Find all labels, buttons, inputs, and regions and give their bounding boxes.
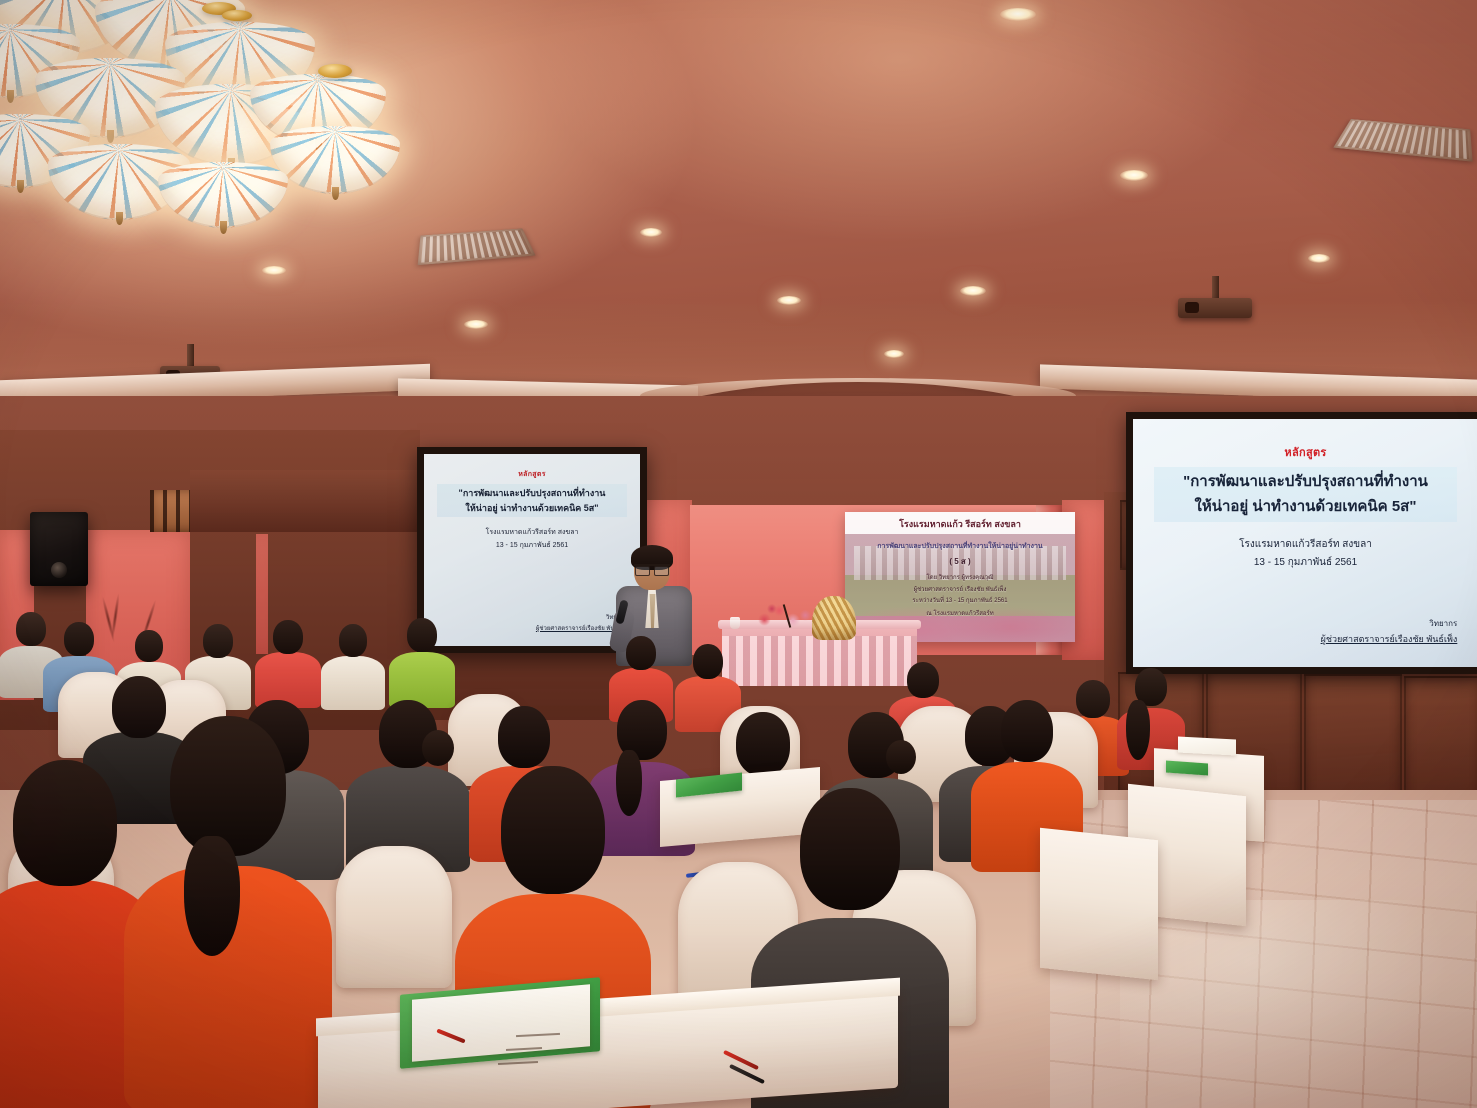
downlight [884, 350, 904, 358]
person-head [203, 624, 233, 658]
banner-line4: ณ โรงแรมหาดแก้วรีสอร์ท [845, 608, 1075, 618]
downlight [464, 320, 488, 329]
person-ponytail [1126, 700, 1150, 760]
audience-person [390, 618, 454, 702]
woven-basket [812, 596, 856, 640]
person-hair-bun [886, 740, 916, 774]
person-head [907, 662, 939, 698]
downlight [960, 286, 986, 296]
slide-presenter: ผู้ช่วยศาสตราจารย์เรืองชัย พันธ์เพ็ง [437, 623, 627, 633]
person-head [13, 760, 117, 886]
slide-title-block: "การพัฒนาและปรับปรุงสถานที่ทำงาน ให้น่าอ… [437, 484, 627, 517]
banquet-chair [336, 846, 452, 988]
person-head [736, 712, 790, 776]
banner-title: โรงแรมหาดแก้ว รีสอร์ท สงขลา [845, 517, 1075, 531]
photo-scene: หลักสูตร "การพัฒนาและปรับปรุงสถานที่ทำงา… [0, 0, 1477, 1108]
slide-title-line2: ให้น่าอยู่ น่าทำงานด้วยเทคนิค 5ส" [441, 502, 624, 514]
projector-lens [1185, 302, 1199, 313]
downlight [1308, 254, 1330, 263]
person-head [170, 716, 286, 856]
slide-date: 13 - 15 กุมภาพันธ์ 2561 [1154, 555, 1458, 570]
slide-spacer [437, 551, 627, 612]
slide-byline: วิทยากร [437, 612, 627, 622]
person-head [800, 788, 900, 910]
wall-wood-upper-left [190, 470, 420, 532]
floor-reflection [1120, 900, 1450, 1108]
wood-panel [1304, 674, 1402, 806]
slide-title-line2: ให้น่าอยู่ น่าทำงานด้วยเทคนิค 5ส" [1160, 497, 1452, 517]
downlight [1000, 8, 1036, 21]
slide-kicker: หลักสูตร [1154, 443, 1458, 461]
slide-date: 13 - 15 กุมภาพันธ์ 2561 [437, 540, 627, 551]
person-head [339, 624, 367, 657]
audience-person [256, 620, 320, 702]
ceiling-projector-right [1178, 276, 1252, 328]
audience-person [322, 624, 384, 704]
banner-line3: ระหว่างวันที่ 13 - 15 กุมภาพันธ์ 2561 [845, 595, 1075, 605]
downlight [640, 228, 662, 237]
person-head [64, 622, 94, 656]
slide-byline: วิทยากร [1154, 617, 1458, 630]
slide-title-block: "การพัฒนาและปรับปรุงสถานที่ทำงาน ให้น่าอ… [1154, 467, 1458, 522]
slide-venue: โรงแรมหาดแก้วรีสอร์ท สงขลา [437, 527, 627, 538]
right-screen-surface: หลักสูตร "การพัฒนาและปรับปรุงสถานที่ทำงา… [1133, 419, 1477, 667]
glasses-icon [634, 564, 670, 574]
chandelier [0, 0, 390, 256]
slide-title-line1: "การพัฒนาและปรับปรุงสถานที่ทำงาน [441, 487, 624, 499]
head-table-skirt [722, 636, 917, 686]
audience-person [348, 700, 468, 864]
person-head [693, 644, 723, 679]
downlight [1120, 170, 1148, 181]
left-screen-surface: หลักสูตร "การพัฒนาและปรับปรุงสถานที่ทำงา… [424, 454, 640, 646]
banner-line1: โดย วิทยากร ผู้ทรงคุณวุฒิ [845, 572, 1075, 582]
document-stack [1178, 736, 1236, 755]
slide-title-line1: "การพัฒนาและปรับปรุงสถานที่ทำงาน [1160, 472, 1452, 492]
slide-venue: โรงแรมหาดแก้วรีสอร์ท สงขลา [1154, 537, 1458, 552]
person-head [501, 766, 605, 894]
banner-line2: ผู้ช่วยศาสตราจารย์ เรืองชัย พันธ์เพ็ง [845, 584, 1075, 594]
person-hair-bun [422, 730, 454, 766]
banner-code: ( 5 ส ) [845, 555, 1075, 568]
person-ponytail [184, 836, 240, 956]
audience-person-near [128, 716, 328, 1108]
wall-speaker [30, 512, 88, 586]
person-head [135, 630, 163, 662]
slide-kicker: หลักสูตร [437, 469, 627, 480]
person-head [498, 706, 550, 768]
slide-content-right: หลักสูตร "การพัฒนาและปรับปรุงสถานที่ทำงา… [1133, 419, 1477, 667]
right-projection-screen[interactable]: หลักสูตร "การพัฒนาและปรับปรุงสถานที่ทำงา… [1126, 412, 1477, 674]
downlight [777, 296, 801, 305]
slide-content-left: หลักสูตร "การพัฒนาและปรับปรุงสถานที่ทำงา… [424, 454, 640, 646]
side-table [1040, 828, 1158, 980]
banner-subtitle: การพัฒนาและปรับปรุงสถานที่ทำงานให้น่าอยู… [845, 541, 1075, 552]
person-head [1001, 700, 1053, 762]
person-head [16, 612, 46, 646]
water-glass [730, 617, 740, 629]
person-head [407, 618, 437, 652]
downlight [262, 266, 286, 275]
slide-presenter: ผู้ช่วยศาสตราจารย์เรืองชัย พันธ์เพ็ง [1154, 632, 1458, 646]
person-head [273, 620, 303, 654]
person-head [626, 636, 656, 670]
slide-spacer [1154, 570, 1458, 617]
